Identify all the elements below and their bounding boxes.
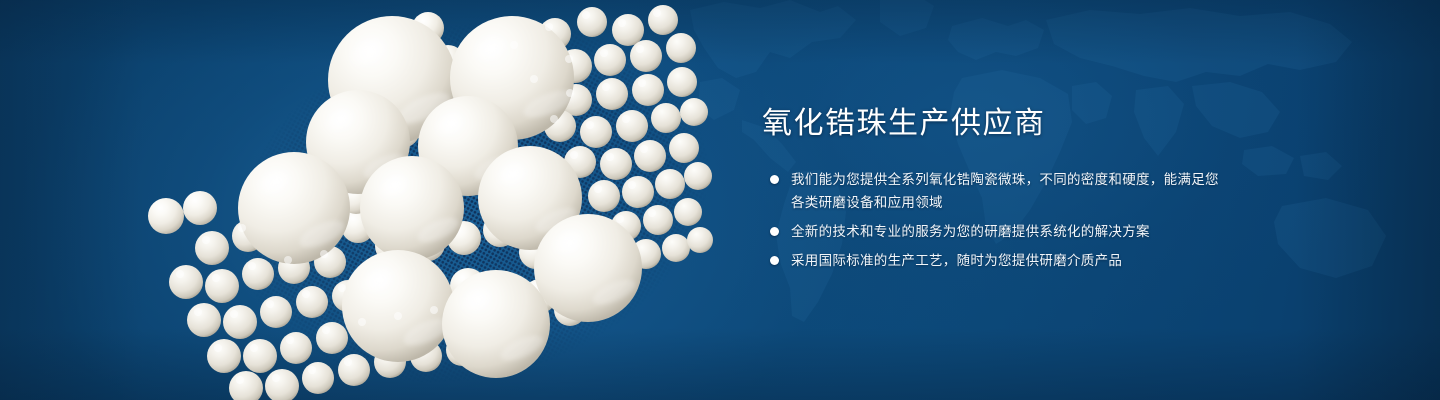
- zirconia-bead-cluster-image: [0, 0, 760, 400]
- list-item: 采用国际标准的生产工艺，随时为您提供研磨介质产品: [762, 249, 1232, 272]
- hero-banner: 氧化锆珠生产供应商 我们能为您提供全系列氧化锆陶瓷微珠，不同的密度和硬度，能满足…: [0, 0, 1440, 400]
- feature-list: 我们能为您提供全系列氧化锆陶瓷微珠，不同的密度和硬度，能满足您各类研磨设备和应用…: [762, 168, 1232, 272]
- list-item-label: 采用国际标准的生产工艺，随时为您提供研磨介质产品: [791, 253, 1122, 268]
- bullet-dot-icon: [770, 227, 779, 236]
- banner-copy: 氧化锆珠生产供应商 我们能为您提供全系列氧化锆陶瓷微珠，不同的密度和硬度，能满足…: [762, 104, 1232, 272]
- bullet-dot-icon: [770, 256, 779, 265]
- list-item: 我们能为您提供全系列氧化锆陶瓷微珠，不同的密度和硬度，能满足您各类研磨设备和应用…: [762, 168, 1232, 214]
- list-item-label: 全新的技术和专业的服务为您的研磨提供系统化的解决方案: [791, 224, 1150, 239]
- list-item-label: 我们能为您提供全系列氧化锆陶瓷微珠，不同的密度和硬度，能满足您各类研磨设备和应用…: [791, 172, 1219, 210]
- page-title: 氧化锆珠生产供应商: [762, 104, 1232, 144]
- bullet-dot-icon: [770, 175, 779, 184]
- list-item: 全新的技术和专业的服务为您的研磨提供系统化的解决方案: [762, 220, 1232, 243]
